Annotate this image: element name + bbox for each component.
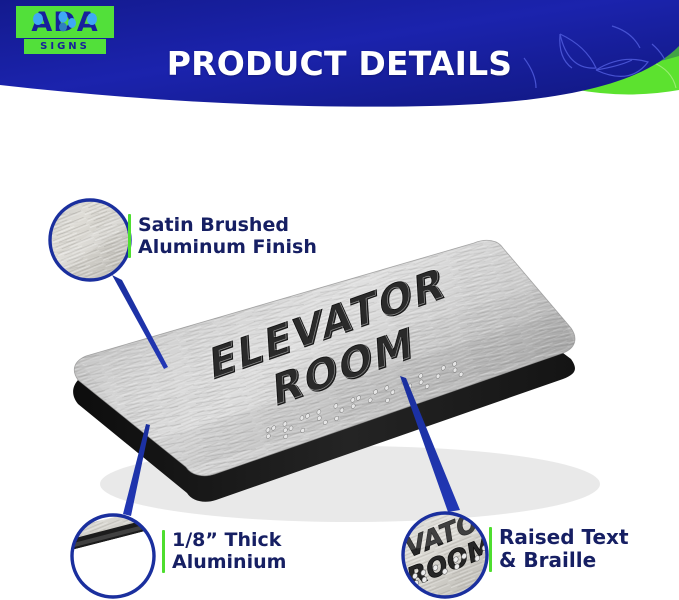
accent-bar-icon xyxy=(489,527,492,572)
callout-raised-text-braille-label: Raised Text & Braille xyxy=(499,526,629,572)
logo-ada-badge: ADA xyxy=(16,6,114,38)
product-details-infographic: ADA SIGNS PRODUCT DETAILS xyxy=(0,0,679,600)
magnifier-satin-finish[interactable] xyxy=(48,198,134,284)
accent-bar-icon xyxy=(128,214,131,258)
callout-thickness: 1/8” Thick Aluminium xyxy=(162,529,286,573)
callout-satin-finish-label: Satin Brushed Aluminum Finish xyxy=(138,214,317,258)
callout-raised-text-braille: Raised Text & Braille xyxy=(489,526,629,572)
page-title: PRODUCT DETAILS xyxy=(0,44,679,83)
callout-thickness-label: 1/8” Thick Aluminium xyxy=(172,529,286,573)
header-banner: ADA SIGNS PRODUCT DETAILS xyxy=(0,0,679,118)
accent-bar-icon xyxy=(162,530,165,573)
logo-ada-text: ADA xyxy=(31,9,98,36)
callout-satin-finish: Satin Brushed Aluminum Finish xyxy=(128,214,317,258)
